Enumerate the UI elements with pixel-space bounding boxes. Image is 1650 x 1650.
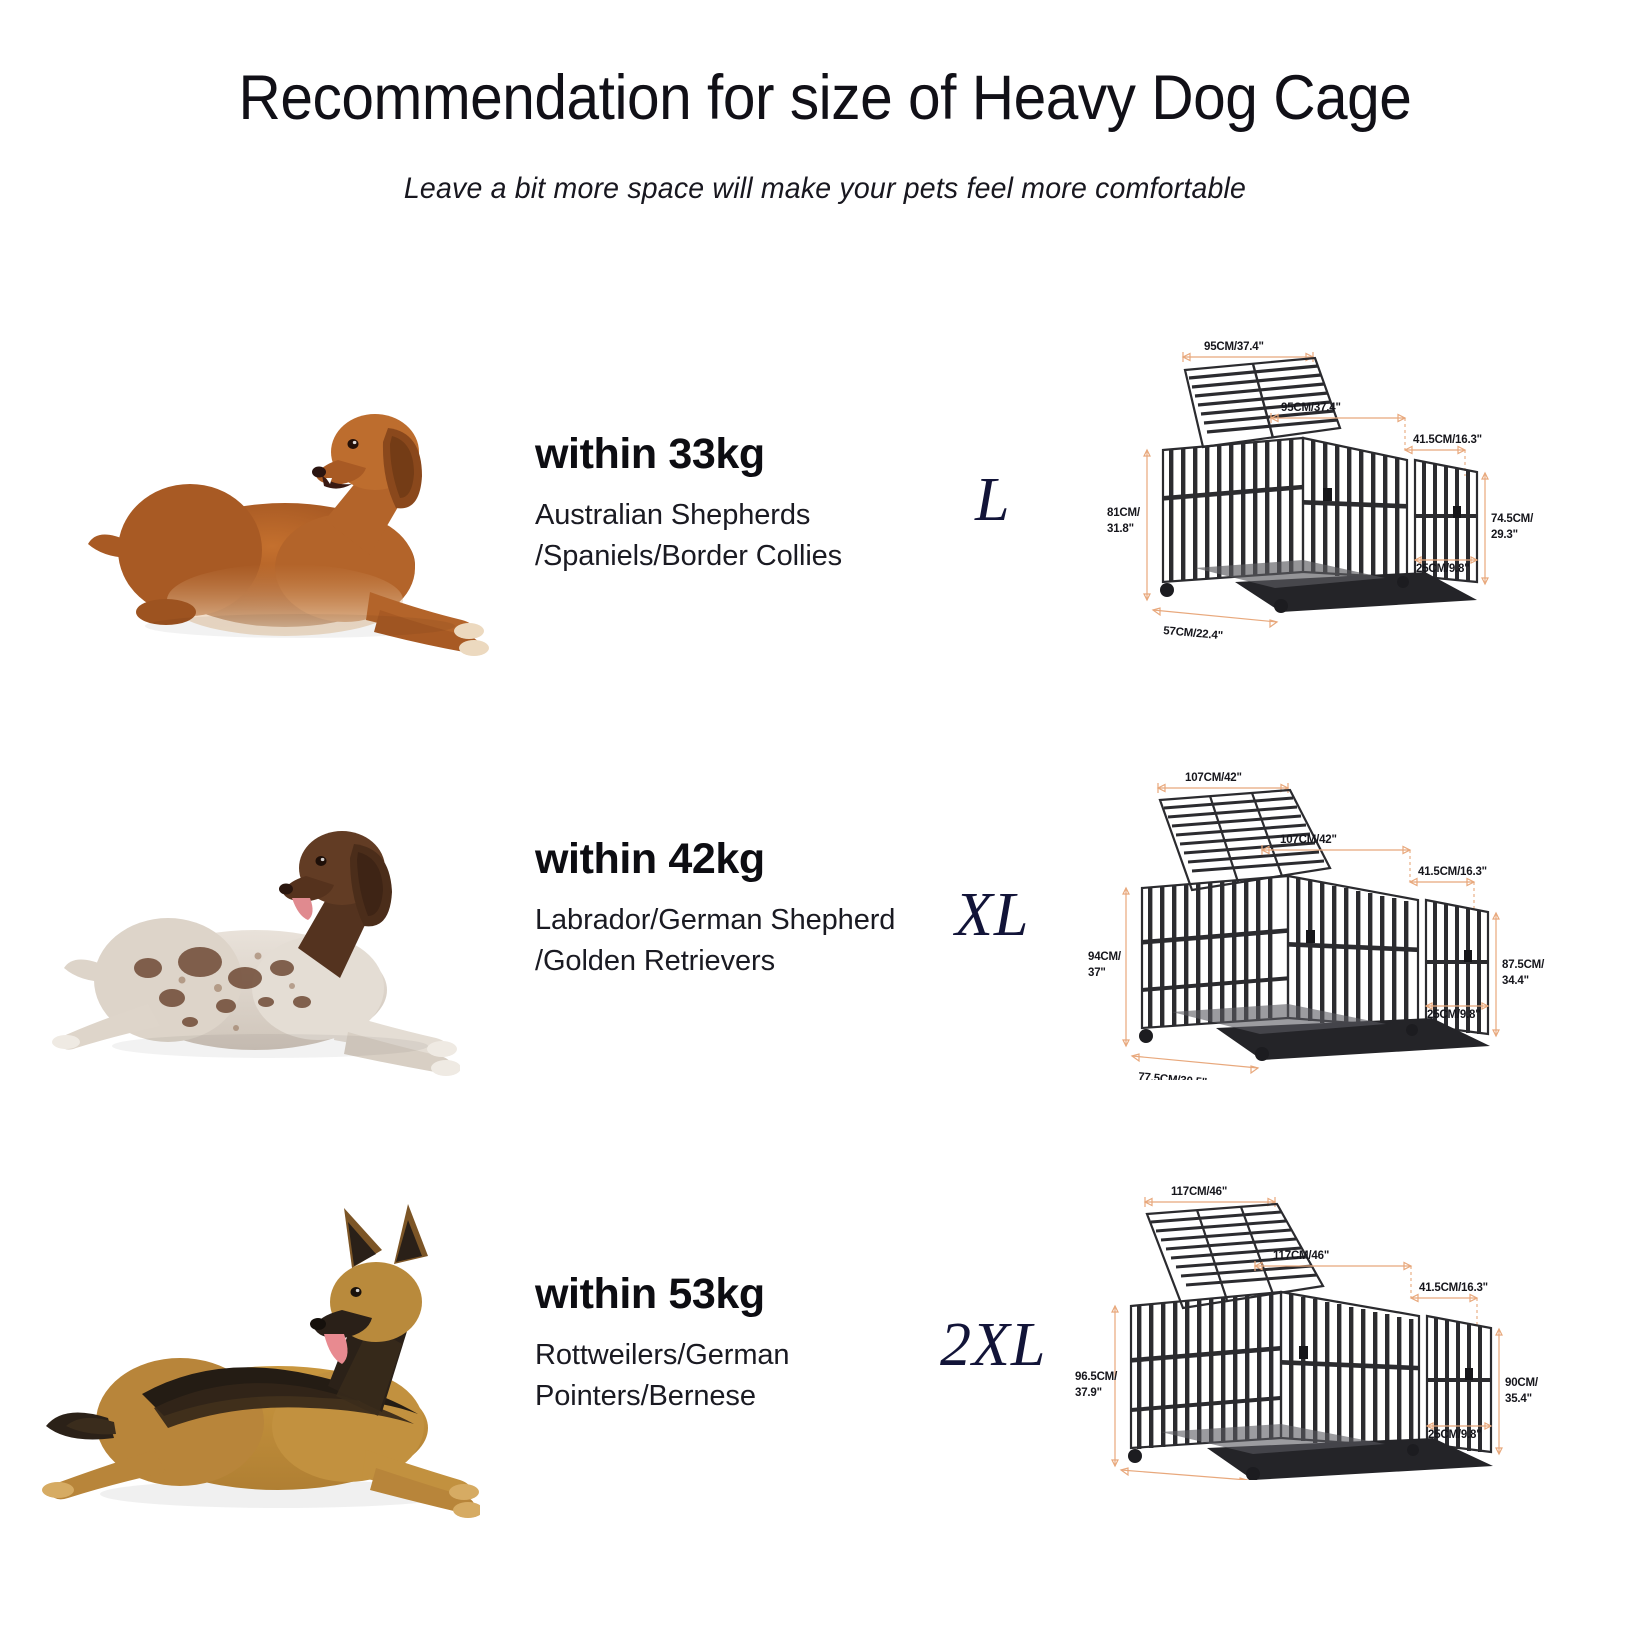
svg-text:41.5CM/16.3": 41.5CM/16.3" xyxy=(1418,866,1487,878)
svg-text:107CM/42": 107CM/42" xyxy=(1280,834,1337,846)
svg-text:41.5CM/16.3": 41.5CM/16.3" xyxy=(1419,1282,1488,1294)
size-tag-l: L xyxy=(975,465,1010,536)
svg-text:41.5CM/16.3": 41.5CM/16.3" xyxy=(1413,434,1482,446)
dim-door-height: 90CM/ 35.4" xyxy=(1496,1329,1539,1454)
dim-base-width: 84CM/33" xyxy=(1121,1468,1247,1480)
size-row-l: within 33kg Australian Shepherds /Spanie… xyxy=(0,320,1650,740)
svg-text:117CM/46": 117CM/46" xyxy=(1171,1186,1227,1198)
text-block-xl: within 42kg Labrador/German Shepherd /Go… xyxy=(535,835,895,982)
svg-text:37": 37" xyxy=(1088,967,1106,979)
dim-base-width: 77.5CM/30.5" xyxy=(1132,1054,1258,1080)
breeds-line-1: Australian Shepherds xyxy=(535,495,842,536)
header: Recommendation for size of Heavy Dog Cag… xyxy=(0,0,1650,206)
dim-door-height: 87.5CM/ 34.4" xyxy=(1493,913,1545,1036)
breeds-label: Rottweilers/German Pointers/Bernese xyxy=(535,1335,789,1417)
dim-door-height: 74.5CM/ 29.3" xyxy=(1482,473,1534,584)
dim-base-width: 57CM/22.4" xyxy=(1153,608,1277,642)
svg-text:117CM/46": 117CM/46" xyxy=(1273,1250,1329,1262)
breeds-line-1: Rottweilers/German xyxy=(535,1335,789,1376)
text-block-l: within 33kg Australian Shepherds /Spanie… xyxy=(535,430,842,577)
svg-text:107CM/42": 107CM/42" xyxy=(1185,772,1242,784)
svg-text:37.9": 37.9" xyxy=(1075,1387,1102,1399)
weight-label: within 53kg xyxy=(535,1270,789,1319)
svg-text:90CM/: 90CM/ xyxy=(1505,1377,1539,1389)
weight-label: within 42kg xyxy=(535,835,895,884)
svg-text:25CM/9.8": 25CM/9.8" xyxy=(1427,1009,1481,1021)
german-shepherd-photo xyxy=(30,1150,480,1570)
cage-diagram-l: 95CM/37.4" xyxy=(1085,310,1585,650)
dim-lid-width: 117CM/46" xyxy=(1145,1186,1275,1207)
breeds-line-2: /Spaniels/Border Collies xyxy=(535,536,842,577)
svg-text:57CM/22.4": 57CM/22.4" xyxy=(1163,625,1224,642)
infographic-page: Recommendation for size of Heavy Dog Cag… xyxy=(0,0,1650,1650)
page-subtitle: Leave a bit more space will make your pe… xyxy=(41,172,1609,206)
svg-text:31.8": 31.8" xyxy=(1107,523,1134,535)
svg-text:96.5CM/: 96.5CM/ xyxy=(1075,1371,1118,1383)
svg-text:81CM/: 81CM/ xyxy=(1107,507,1141,519)
breeds-line-1: Labrador/German Shepherd xyxy=(535,900,895,941)
dim-body-height: 94CM/ 37" xyxy=(1088,888,1129,1046)
size-tag-xl: XL xyxy=(955,880,1029,951)
dim-body-height: 81CM/ 31.8" xyxy=(1107,450,1150,600)
cage-diagram-2xl: 117CM/46" xyxy=(1075,1140,1595,1480)
svg-text:94CM/: 94CM/ xyxy=(1088,951,1122,963)
dim-lid-width: 95CM/37.4" xyxy=(1183,341,1313,362)
svg-text:74.5CM/: 74.5CM/ xyxy=(1491,513,1534,525)
svg-text:95CM/37.4": 95CM/37.4" xyxy=(1204,341,1264,353)
breeds-line-2: /Golden Retrievers xyxy=(535,941,895,982)
weight-label: within 33kg xyxy=(535,430,842,479)
page-title: Recommendation for size of Heavy Dog Cag… xyxy=(58,62,1593,134)
breeds-line-2: Pointers/Bernese xyxy=(535,1376,789,1417)
dim-body-depth: 117CM/46" xyxy=(1255,1250,1411,1298)
dim-body-height: 96.5CM/ 37.9" xyxy=(1075,1306,1118,1466)
svg-text:87.5CM/: 87.5CM/ xyxy=(1502,959,1545,971)
brown-retriever-photo xyxy=(70,320,490,740)
german-shorthaired-pointer-photo xyxy=(40,740,460,1160)
cage-diagram-xl: 107CM/42" xyxy=(1080,750,1590,1080)
svg-text:77.5CM/30.5": 77.5CM/30.5" xyxy=(1138,1071,1208,1080)
svg-text:25CM/9.8": 25CM/9.8" xyxy=(1428,1429,1482,1441)
dim-door-small: 25CM/9.8" xyxy=(1426,1003,1488,1021)
svg-text:29.3": 29.3" xyxy=(1491,529,1518,541)
dim-door-small: 25CM/9.8" xyxy=(1427,1423,1491,1441)
svg-text:95CM/37.4": 95CM/37.4" xyxy=(1281,402,1341,414)
breeds-label: Labrador/German Shepherd /Golden Retriev… xyxy=(535,900,895,982)
text-block-2xl: within 53kg Rottweilers/German Pointers/… xyxy=(535,1270,789,1417)
svg-text:34.4": 34.4" xyxy=(1502,975,1529,987)
dim-lid-width: 107CM/42" xyxy=(1158,772,1288,793)
breeds-label: Australian Shepherds /Spaniels/Border Co… xyxy=(535,495,842,577)
svg-text:35.4": 35.4" xyxy=(1505,1393,1532,1405)
size-row-2xl: within 53kg Rottweilers/German Pointers/… xyxy=(0,1130,1650,1550)
size-row-xl: within 42kg Labrador/German Shepherd /Go… xyxy=(0,740,1650,1160)
size-tag-2xl: 2XL xyxy=(940,1310,1046,1381)
